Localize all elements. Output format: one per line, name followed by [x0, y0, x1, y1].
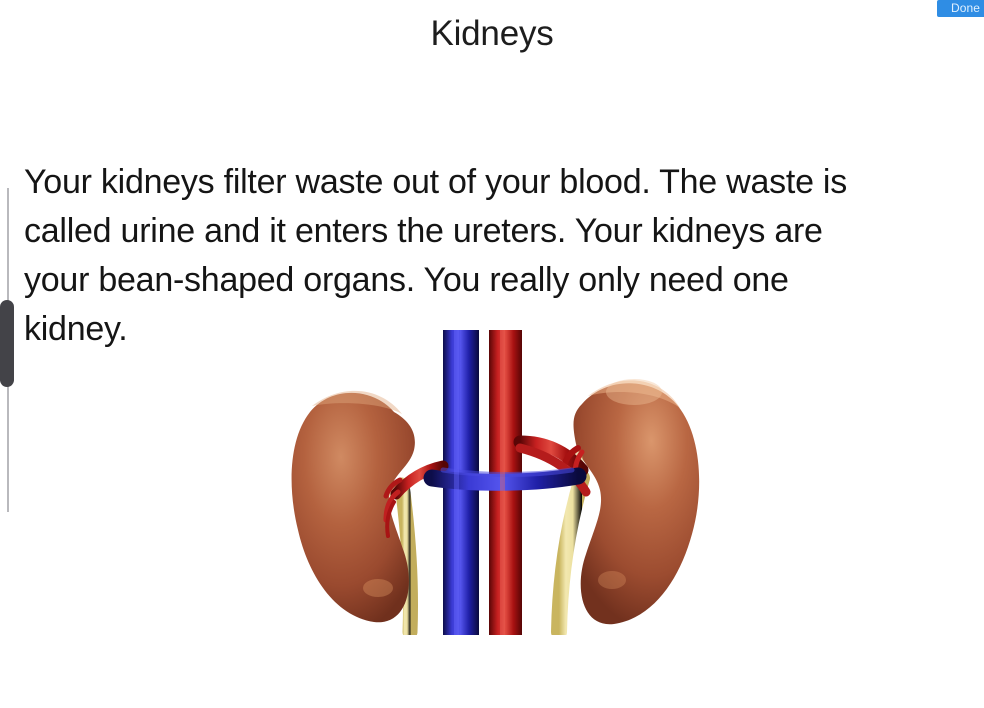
right-ureter	[559, 478, 582, 632]
body-line: called urine and it enters the ureters. …	[24, 207, 984, 256]
left-kidney	[292, 393, 415, 622]
article-body: Your kidneys filter waste out of your bl…	[24, 158, 984, 354]
body-line: Your kidneys filter waste out of your bl…	[24, 158, 984, 207]
right-kidney	[574, 383, 700, 624]
article-page: Done Kidneys Your kidneys filter waste o…	[0, 0, 984, 708]
kidneys-anatomy-illustration	[282, 330, 712, 635]
page-title: Kidneys	[0, 14, 984, 54]
body-line: your bean-shaped organs. You really only…	[24, 256, 984, 305]
scrollbar-thumb[interactable]	[0, 300, 14, 387]
